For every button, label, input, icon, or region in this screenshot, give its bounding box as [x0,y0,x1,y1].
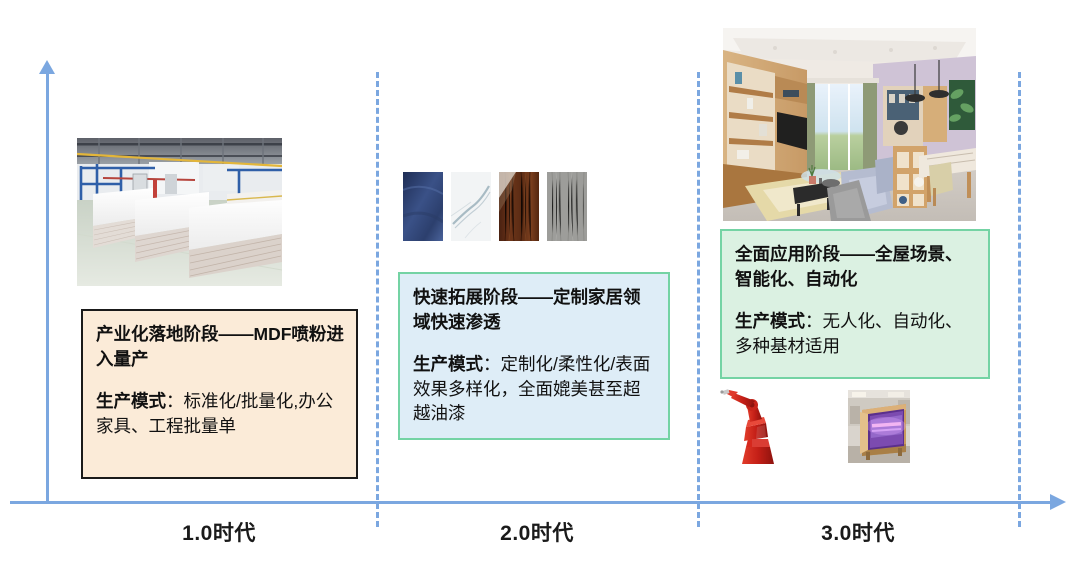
timeline-infographic: 产业化落地阶段——MDF喷粉进入量产 生产模式：标准化/批量化,办公家具、工程批… [0,0,1080,567]
stage-card-3-mode-sep: ： [805,311,823,331]
era-label-1: 1.0时代 [104,517,334,547]
stage-divider-1 [376,72,379,527]
stage-card-3-mode: 生产模式：无人化、自动化、多种基材适用 [735,309,976,359]
axis-arrow-up-icon [39,60,55,74]
stage-card-1: 产业化落地阶段——MDF喷粉进入量产 生产模式：标准化/批量化,办公家具、工程批… [81,309,358,479]
industrial-robot-arm-photo [716,389,781,464]
stage-card-1-mode-sep: ： [166,391,184,411]
stage-card-2: 快速拓展阶段——定制家居领域快速渗透 生产模式：定制化/柔性化/表面效果多样化，… [398,272,670,440]
stage-card-2-title: 快速拓展阶段——定制家居领域快速渗透 [413,285,656,335]
vertical-axis-line [46,72,49,504]
stage-card-2-mode: 生产模式：定制化/柔性化/表面效果多样化，全面媲美甚至超越油漆 [413,352,656,427]
uv-coating-machine-photo [848,390,910,463]
era-label-2: 2.0时代 [422,517,652,547]
card-3-spacer [735,292,976,309]
mdf-board-factory-photo [77,138,282,286]
stage-divider-2 [697,72,700,527]
stage-card-1-title: 产业化落地阶段——MDF喷粉进入量产 [96,322,344,372]
stage-card-1-mode-lead: 生产模式 [96,391,166,411]
axis-arrow-right-icon [1050,494,1066,510]
swatch-dark-wood [499,172,539,241]
card-1-spacer [96,372,344,389]
swatch-white-marble [451,172,491,241]
stage-card-2-mode-sep: ： [483,354,501,374]
stage-card-1-mode: 生产模式：标准化/批量化,办公家具、工程批量单 [96,389,344,439]
stage-card-3-title: 全面应用阶段——全屋场景、智能化、自动化 [735,242,976,292]
swatch-grey-wood [547,172,587,241]
stage-card-3: 全面应用阶段——全屋场景、智能化、自动化 生产模式：无人化、自动化、多种基材适用 [720,229,990,379]
smart-living-room-render-photo [723,28,976,221]
card-2-spacer [413,335,656,352]
era-label-3: 3.0时代 [743,517,973,547]
stage-card-2-mode-lead: 生产模式 [413,354,483,374]
stage-divider-3 [1018,72,1021,527]
stage-card-3-mode-lead: 生产模式 [735,311,805,331]
horizontal-axis-line [10,501,1052,504]
swatch-dark-blue [403,172,443,241]
